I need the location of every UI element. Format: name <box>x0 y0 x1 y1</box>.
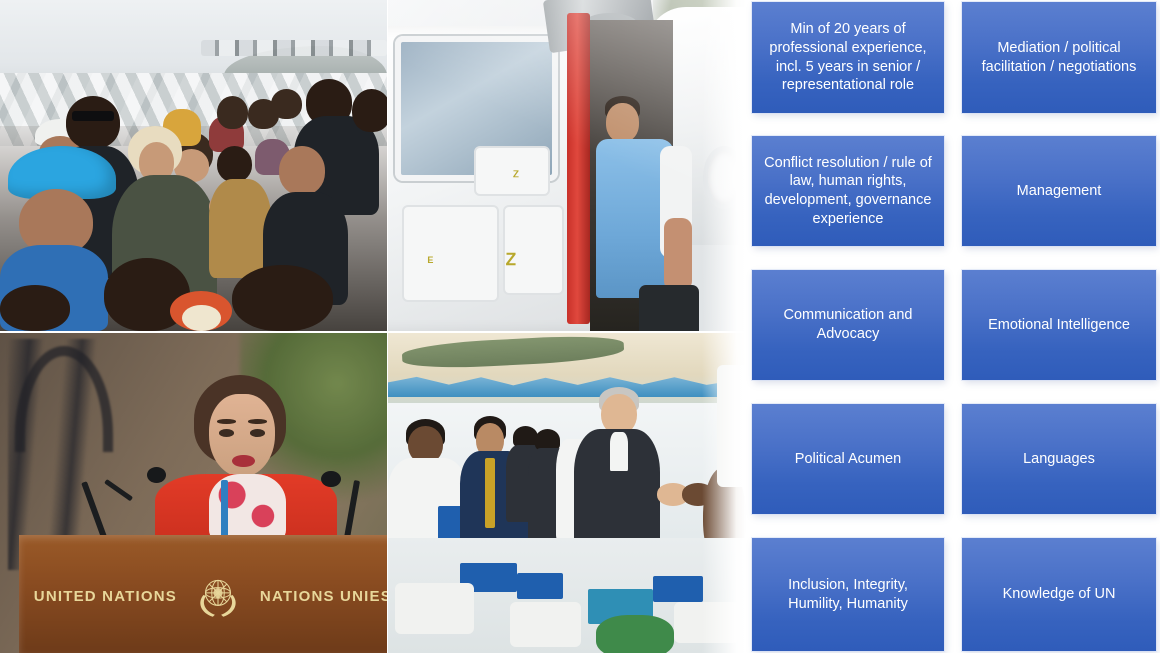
requirement-label: Management <box>1017 182 1102 201</box>
requirement-box-political-acumen[interactable]: Political Acumen <box>752 404 944 514</box>
photo-collage: E Ꮓ Ꮓ <box>0 0 746 653</box>
photo-refugee-camp-visit <box>0 0 387 331</box>
photo-field-handshake <box>388 333 746 653</box>
podium-text-left: UNITED NATIONS <box>34 588 177 605</box>
requirement-label: Conflict resolution / rule of law, human… <box>764 154 932 228</box>
requirement-box-knowledge-of-un[interactable]: Knowledge of UN <box>962 538 1156 651</box>
requirement-label: Knowledge of UN <box>1003 585 1116 604</box>
requirement-box-emotional-intelligence[interactable]: Emotional Intelligence <box>962 270 1156 380</box>
requirement-box-experience[interactable]: Min of 20 years of professional experien… <box>752 2 944 113</box>
requirements-grid: Min of 20 years of professional experien… <box>750 0 1160 653</box>
requirement-label: Min of 20 years of professional experien… <box>764 20 932 94</box>
requirement-label: Emotional Intelligence <box>988 316 1130 335</box>
requirement-label: Political Acumen <box>795 450 901 469</box>
podium-text-right: NATIONS UNIES <box>260 588 387 605</box>
podium: UNITED NATIONS <box>19 535 387 653</box>
requirement-box-management[interactable]: Management <box>962 136 1156 246</box>
un-emblem-icon <box>192 570 244 622</box>
photo-helicopter-boarding: E Ꮓ Ꮓ <box>388 0 746 331</box>
requirement-label: Languages <box>1023 450 1095 469</box>
requirement-label: Mediation / political facilitation / neg… <box>974 39 1144 76</box>
slide-canvas: E Ꮓ Ꮓ <box>0 0 1160 653</box>
requirement-box-values[interactable]: Inclusion, Integrity, Humility, Humanity <box>752 538 944 651</box>
requirement-box-mediation[interactable]: Mediation / political facilitation / neg… <box>962 2 1156 113</box>
requirement-box-communication[interactable]: Communication and Advocacy <box>752 270 944 380</box>
requirement-label: Communication and Advocacy <box>764 306 932 343</box>
requirement-box-conflict[interactable]: Conflict resolution / rule of law, human… <box>752 136 944 246</box>
photo-podium-speech: UNITED NATIONS <box>0 333 387 653</box>
requirement-box-languages[interactable]: Languages <box>962 404 1156 514</box>
requirement-label: Inclusion, Integrity, Humility, Humanity <box>764 576 932 613</box>
